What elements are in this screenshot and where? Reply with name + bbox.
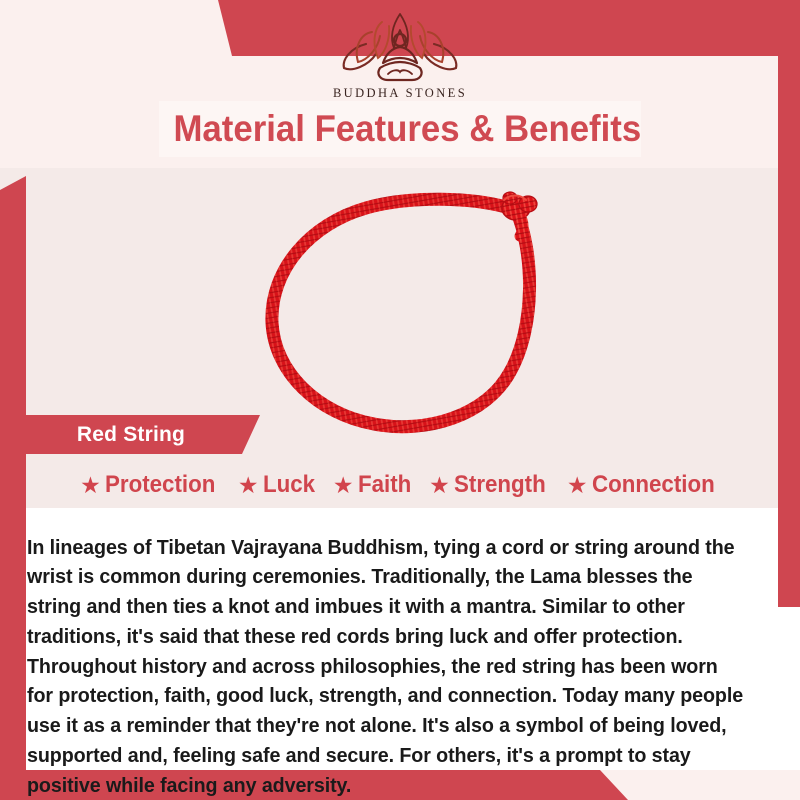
star-icon: ★ (238, 474, 259, 495)
feature-label: Luck (263, 471, 315, 499)
brand-name: BUDDHA STONES (0, 86, 800, 101)
feature-label: Strength (454, 471, 546, 499)
star-icon: ★ (567, 474, 588, 495)
lotus-meditation-icon (0, 10, 800, 84)
brand-logo: BUDDHA STONES (0, 10, 800, 101)
feature-item: ★ Luck (232, 471, 325, 499)
star-icon: ★ (333, 474, 354, 495)
feature-label: Faith (358, 471, 411, 499)
decorative-stripe-left (0, 176, 26, 800)
star-icon: ★ (80, 474, 101, 495)
feature-label: Protection (105, 471, 215, 499)
feature-item: ★ Strength (423, 471, 559, 499)
red-string-bracelet-image (248, 176, 572, 440)
feature-list: ★ Protection ★ Luck ★ Faith ★ Strength ★… (26, 466, 778, 504)
feature-item: ★ Faith (327, 471, 421, 499)
section-label: Red String (20, 415, 242, 454)
feature-label: Connection (592, 471, 715, 499)
page-title: Material Features & Benefits (173, 101, 626, 157)
star-icon: ★ (429, 474, 450, 495)
description-text: In lineages of Tibetan Vajrayana Buddhis… (27, 533, 747, 800)
poster-canvas: BUDDHA STONES Material Features & Benefi… (0, 0, 800, 800)
feature-item: ★ Protection (74, 471, 230, 499)
feature-item: ★ Connection (561, 471, 730, 499)
